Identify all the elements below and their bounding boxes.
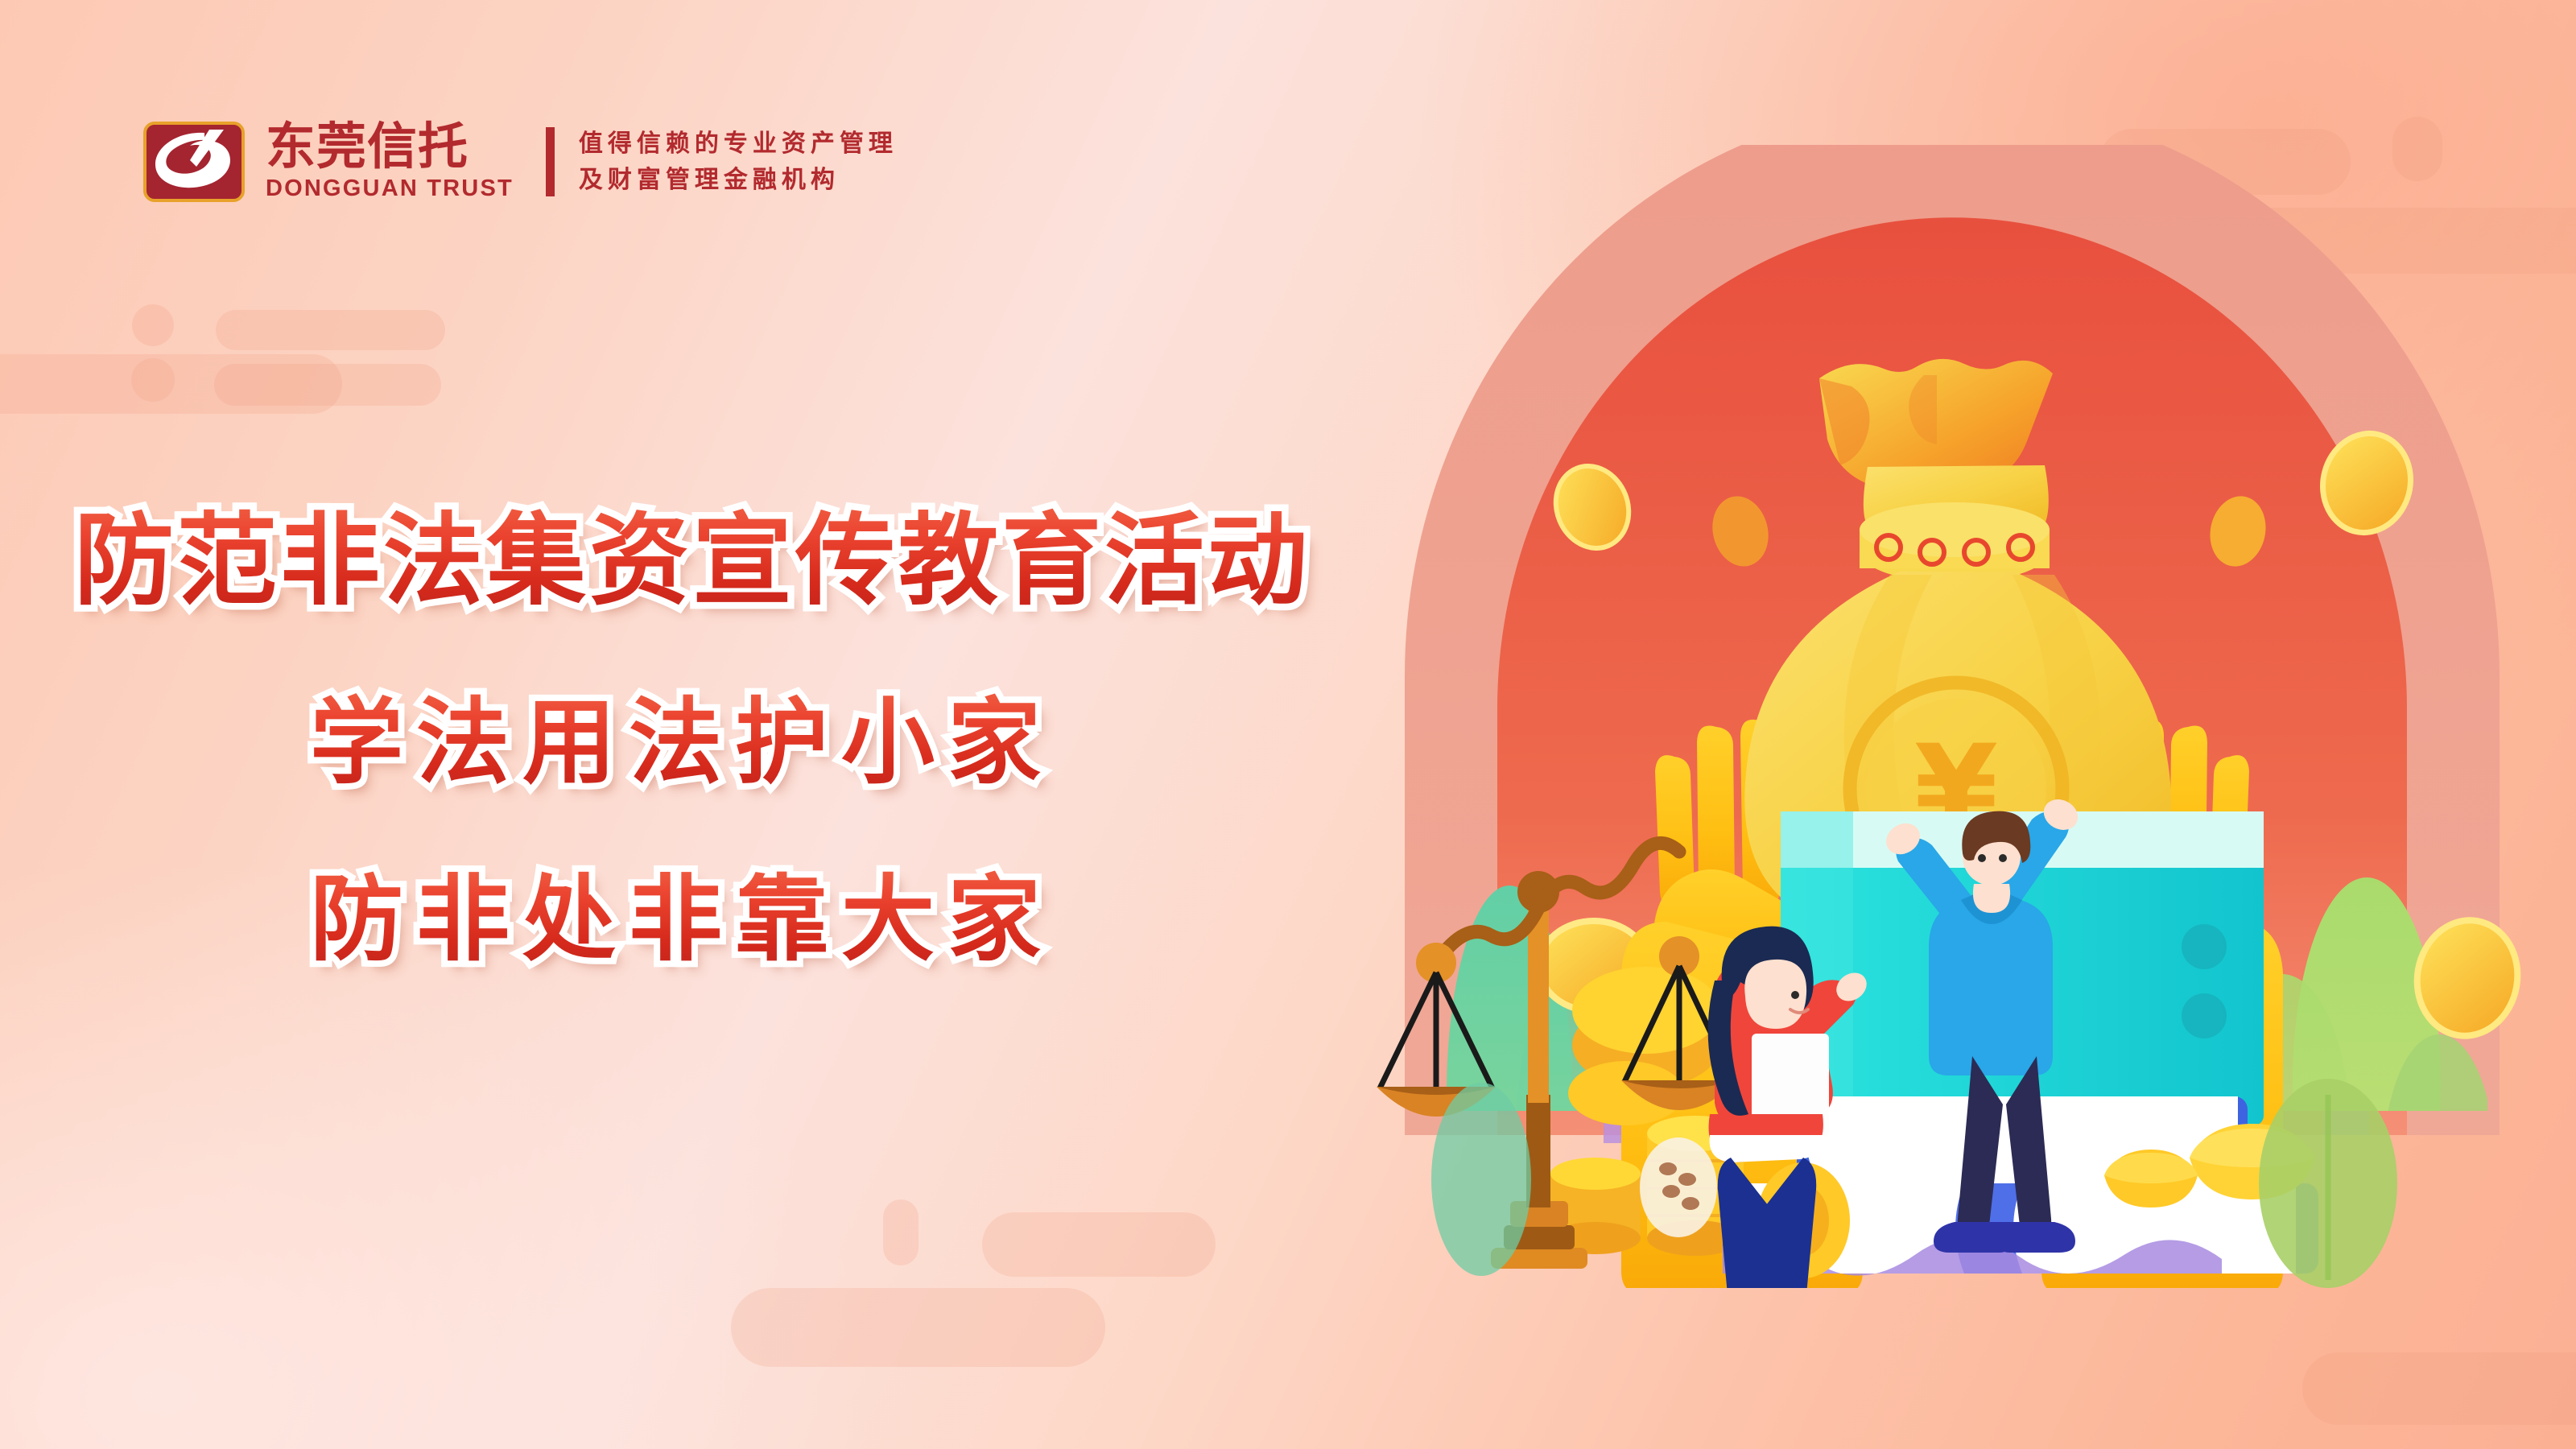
promotional-banner: 东莞信托 DONGGUAN TRUST 值得信赖的专业资产管理 及财富管理金融机… [0, 0, 2576, 1449]
brand-name-group: 东莞信托 DONGGUAN TRUST [266, 121, 514, 203]
decor-pill-dot [132, 304, 174, 346]
finance-illustration: ¥ [1368, 145, 2536, 1288]
brand-logo-block: 东莞信托 DONGGUAN TRUST 值得信赖的专业资产管理 及财富管理金融机… [143, 121, 898, 203]
decor-pill [216, 310, 445, 350]
brand-name-en: DONGGUAN TRUST [266, 174, 514, 203]
decor-pill [214, 364, 441, 406]
logo-tagline-divider [546, 127, 555, 196]
headline-line-2: 学法用法护小家 [310, 667, 1054, 802]
dongguan-trust-swoosh-logo-icon [143, 122, 245, 202]
decor-pill-dot [883, 1199, 919, 1265]
brand-name-cn: 东莞信托 [266, 121, 514, 171]
headline-block: 防范非法集资宣传教育活动 学法用法护小家 防非处非靠大家 [0, 479, 1385, 979]
decor-pill [2302, 1352, 2576, 1425]
decor-pill [731, 1288, 1105, 1367]
decor-pill-dot [131, 358, 175, 402]
headline-line-3: 防非处非靠大家 [310, 844, 1054, 979]
headline-line-1: 防范非法集资宣传教育活动 [74, 479, 1311, 624]
tagline-line-2: 及财富管理金融机构 [579, 162, 898, 199]
tagline-line-1: 值得信赖的专业资产管理 [579, 126, 898, 163]
decor-pill [982, 1212, 1216, 1277]
brand-tagline: 值得信赖的专业资产管理 及财富管理金融机构 [579, 126, 898, 199]
